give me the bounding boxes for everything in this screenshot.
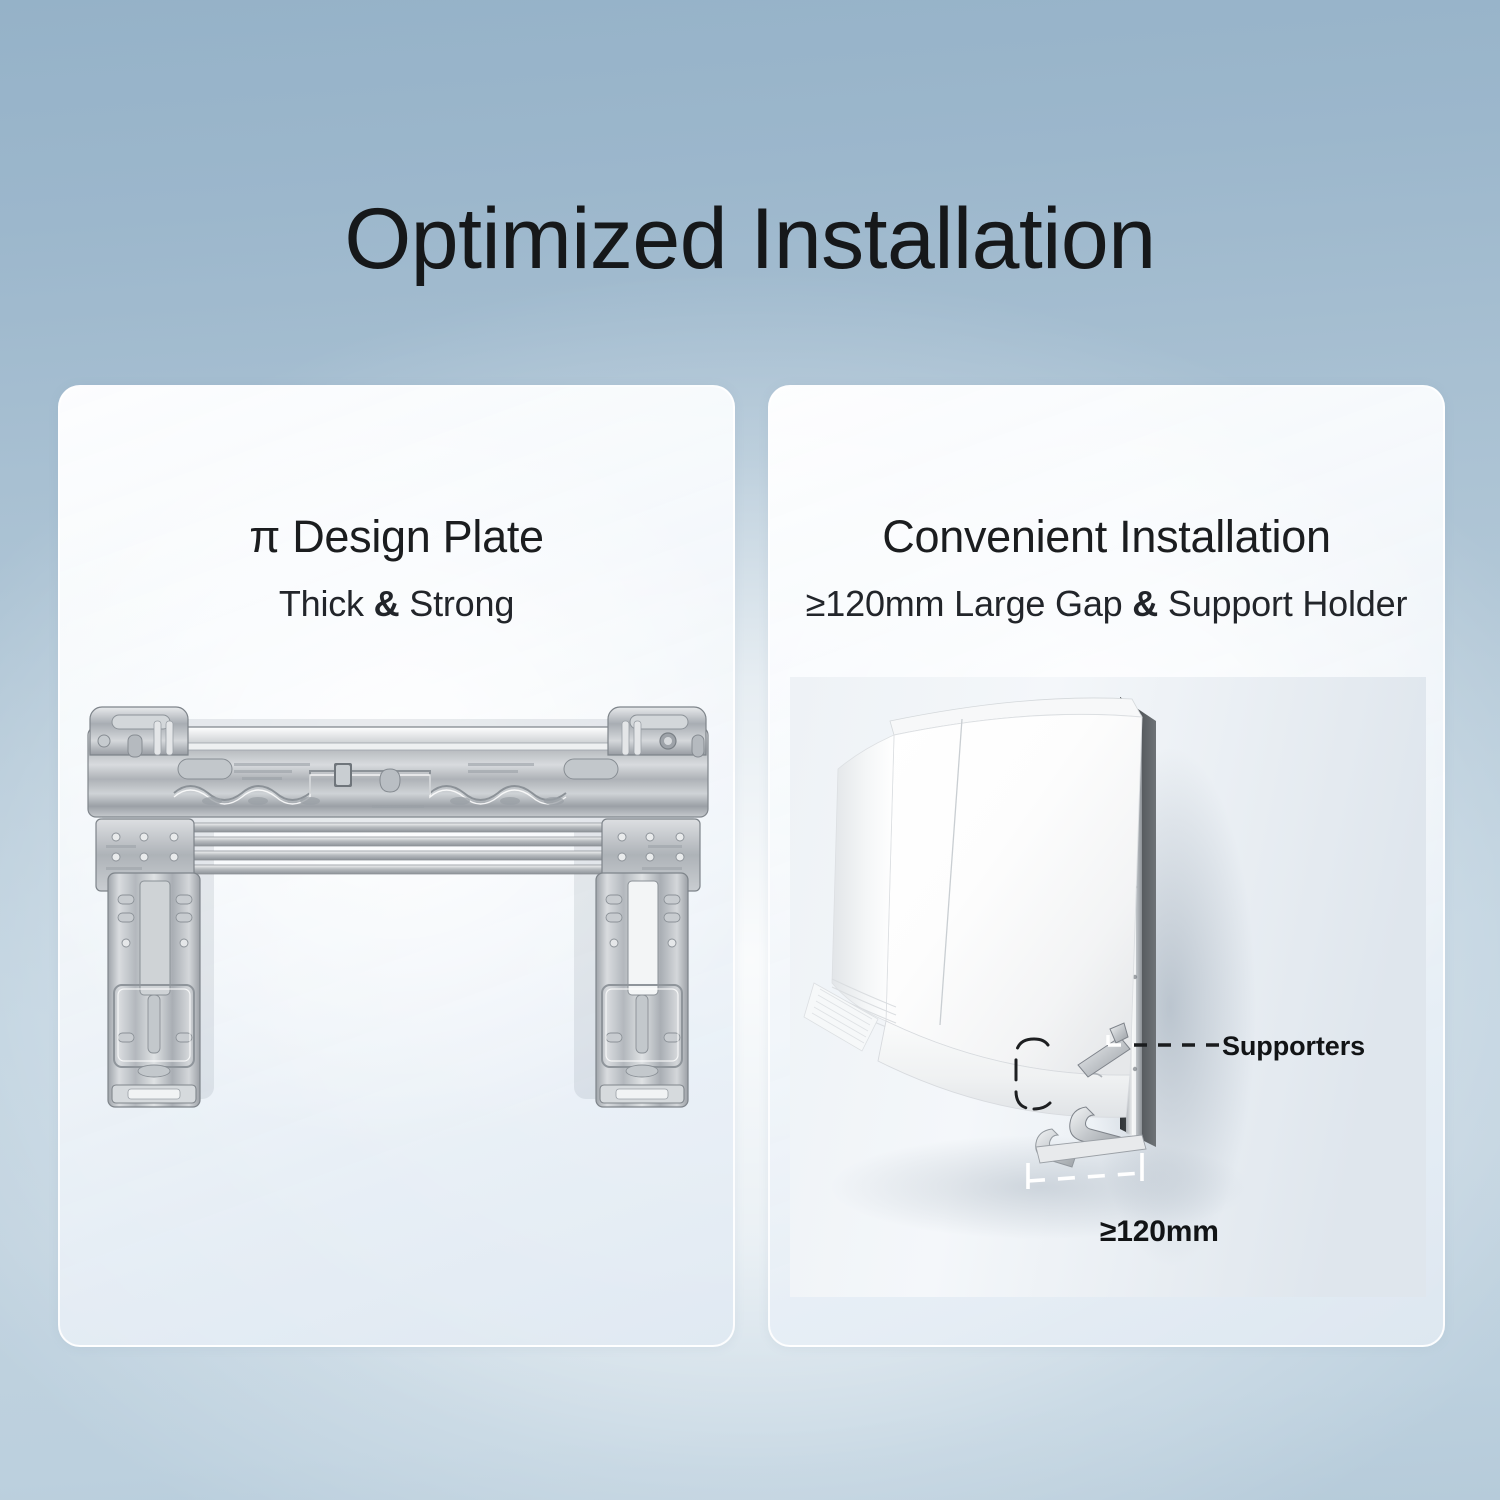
plate-right-cap bbox=[608, 707, 706, 757]
ampersand-icon: & bbox=[374, 583, 400, 624]
illustration-stage-left bbox=[60, 677, 733, 1337]
plate-right-leg bbox=[596, 873, 688, 1107]
subtitle-part-2: Support Holder bbox=[1158, 583, 1407, 624]
illustration-stage-right: Supporters ≥120mm bbox=[770, 677, 1443, 1337]
subtitle-part-2: Strong bbox=[399, 583, 514, 624]
ac-front-panel bbox=[886, 714, 1142, 1075]
page-background: Optimized Installation π Design Plate Th… bbox=[0, 0, 1500, 1500]
subtitle-part-1: Thick bbox=[279, 583, 374, 624]
plate-left-cap bbox=[90, 707, 188, 757]
gap-dimension-label: ≥120mm bbox=[1100, 1215, 1219, 1249]
card-pi-design-plate: π Design Plate Thick & Strong bbox=[58, 385, 735, 1347]
card-subtitle-convenient-installation: ≥120mm Large Gap & Support Holder bbox=[770, 583, 1443, 625]
steel-mounting-plate-illustration bbox=[82, 697, 714, 1117]
card-subtitle-pi-design-plate: Thick & Strong bbox=[60, 583, 733, 625]
card-convenient-installation: Convenient Installation ≥120mm Large Gap… bbox=[768, 385, 1445, 1347]
card-heading-convenient-installation: Convenient Installation bbox=[770, 511, 1443, 563]
plate-left-leg bbox=[108, 873, 200, 1107]
card-heading-pi-design-plate: π Design Plate bbox=[60, 511, 733, 563]
wall-mounted-ac-unit-illustration bbox=[790, 677, 1426, 1297]
ac-left-side bbox=[832, 735, 894, 1021]
supporters-annotation-label: Supporters bbox=[1222, 1031, 1365, 1062]
page-title: Optimized Installation bbox=[0, 196, 1500, 284]
ampersand-icon: & bbox=[1132, 583, 1158, 624]
subtitle-part-1: ≥120mm Large Gap bbox=[806, 583, 1133, 624]
